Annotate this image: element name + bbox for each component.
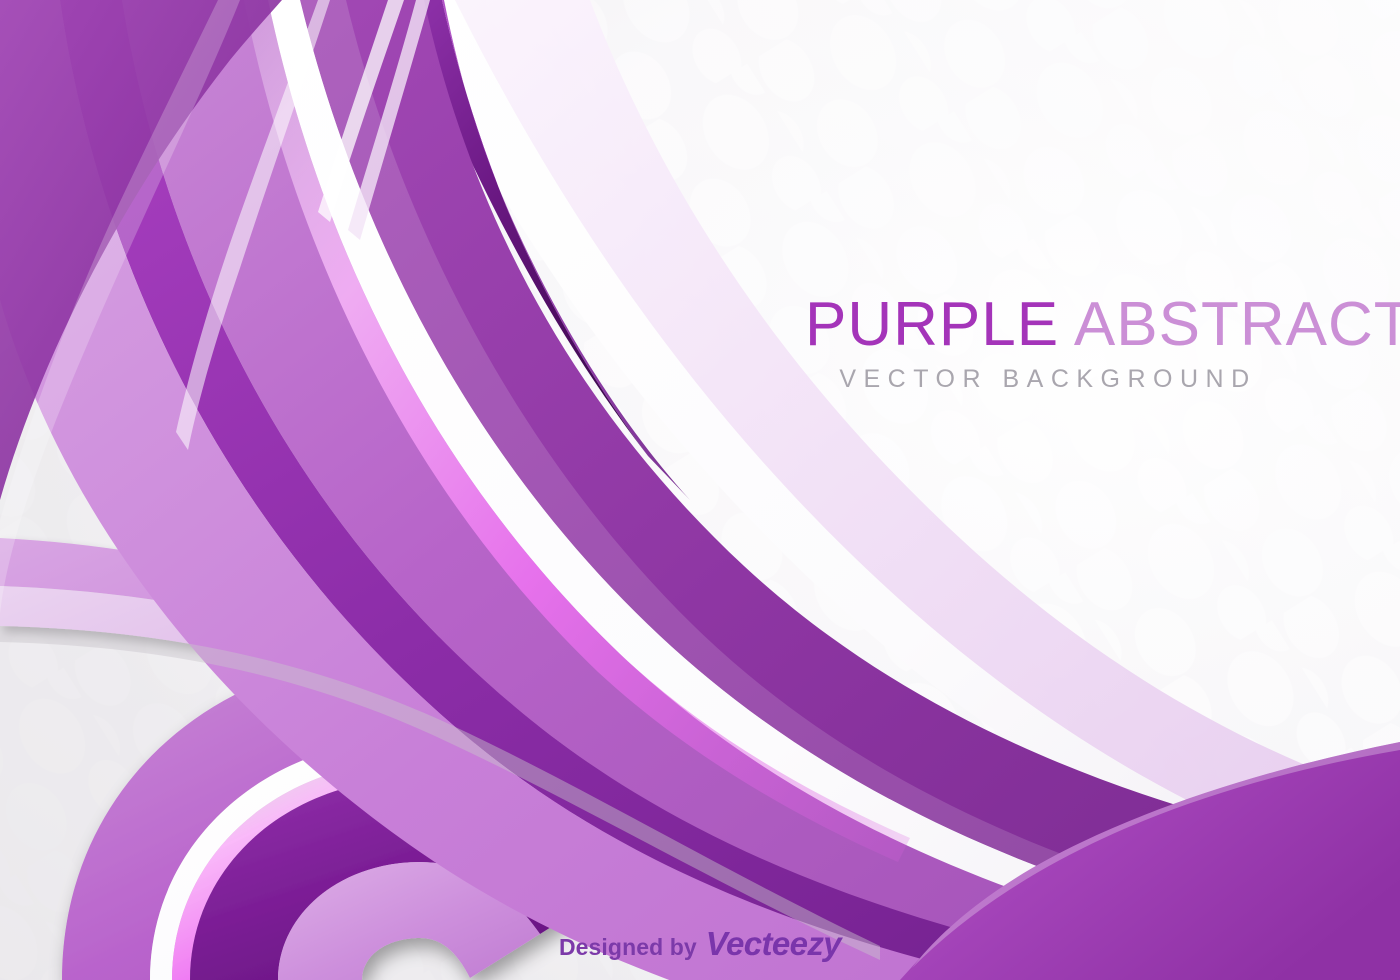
abstract-wave-artwork [0, 0, 1400, 980]
poster-canvas: PURPLE ABSTRACT VECTOR BACKGROUND Design… [0, 0, 1400, 980]
